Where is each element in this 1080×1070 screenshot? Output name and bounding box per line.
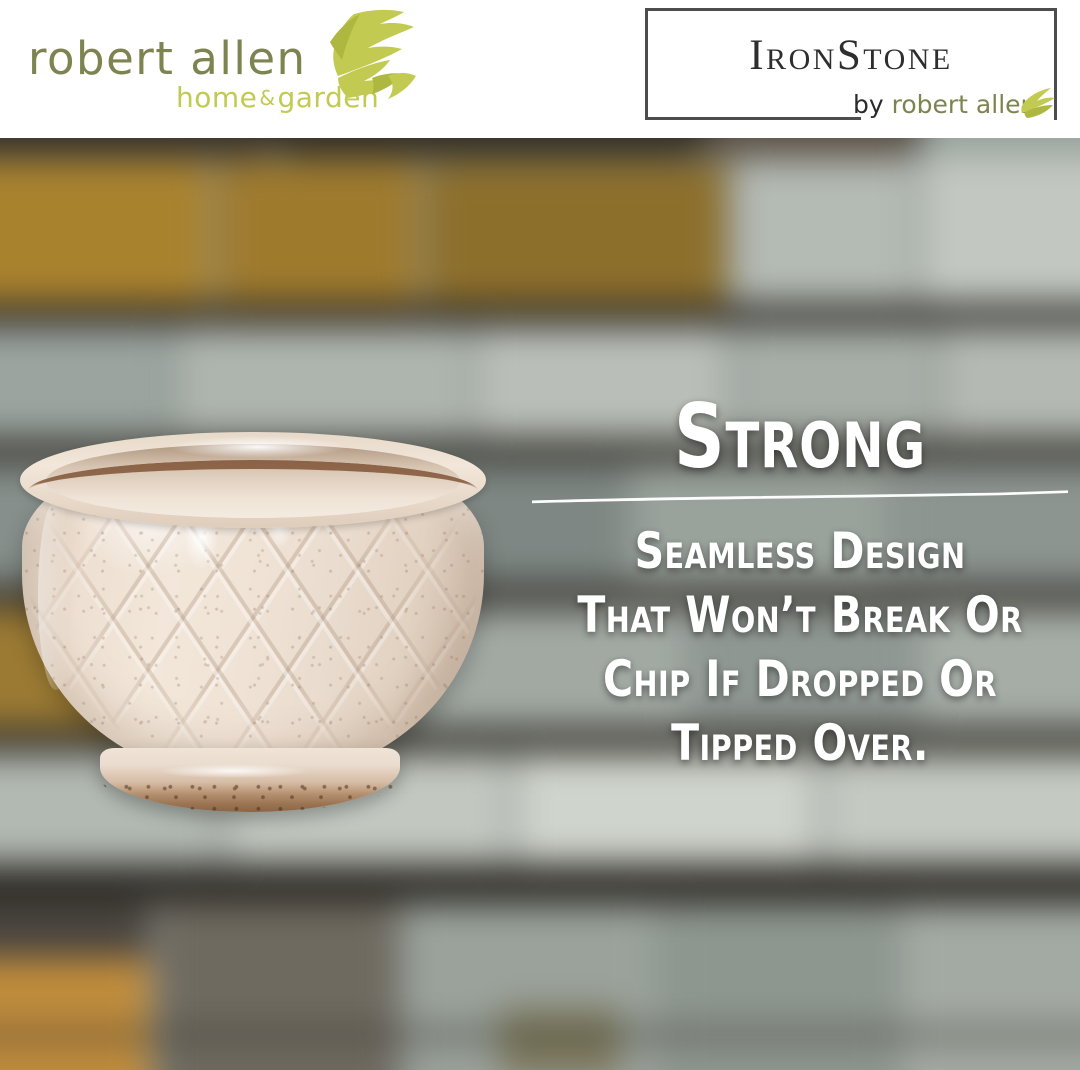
tagline-ampersand: & [257, 86, 277, 110]
planter-edge-highlight [38, 500, 74, 690]
subhead-line-2: That Won’t Break Or [570, 583, 1029, 647]
byline-prefix: by [853, 90, 892, 119]
planter-rim-highlight [168, 436, 348, 458]
logo-border-top [645, 8, 1057, 11]
hero-headline: Strong [576, 395, 1024, 479]
planter-foot-speckle [100, 778, 400, 812]
planter-foot-highlight [158, 764, 308, 778]
subhead-line-1: Seamless Design [570, 519, 1029, 583]
subhead-line-4: Tipped Over. [570, 711, 1029, 775]
ironstone-wordmark: IronStone [645, 34, 1057, 77]
ironstone-planter-bowl [8, 430, 498, 830]
planter-rim-dark-band [28, 460, 478, 522]
promotional-product-image: Strong Seamless Design That Won’t Break … [0, 0, 1080, 1070]
brush-stroke-divider [530, 487, 1070, 505]
tagline-home: home [176, 81, 257, 114]
logo-border-bottom [645, 117, 861, 120]
hero-text-block: Strong Seamless Design That Won’t Break … [520, 395, 1080, 775]
hero-subhead: Seamless Design That Won’t Break Or Chip… [570, 519, 1029, 775]
byline-brand: robert allen [892, 90, 1037, 119]
leaf-swoosh-icon [1019, 88, 1057, 118]
robert-allen-wordmark: robert allen [28, 36, 307, 81]
ironstone-byline: by robert allen [853, 92, 1036, 117]
robert-allen-logo[interactable]: robert allen home&garden [18, 6, 408, 124]
brand-header-bar: robert allen home&garden [0, 0, 1080, 138]
ironstone-logo[interactable]: IronStone by robert allen [645, 8, 1057, 120]
leaf-swoosh-icon [276, 8, 421, 113]
subhead-line-3: Chip If Dropped Or [570, 647, 1029, 711]
